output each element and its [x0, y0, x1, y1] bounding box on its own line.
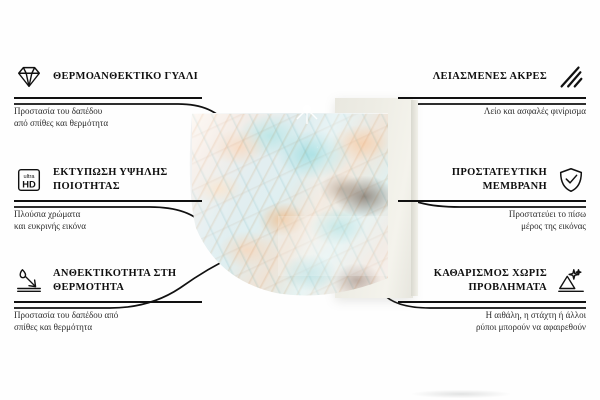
glass-sheen — [192, 113, 388, 303]
feature-title: ΠΡΟΣΤΑΤΕΥΤΙΚΗ ΜΕΜΒΡΑΝΗ — [398, 166, 547, 194]
feature-title: ΑΝΘΕΚΤΙΚΟΤΗΤΑ ΣΤΗ ΘΕΡΜΟΤΗΤΑ — [53, 267, 202, 295]
feature-high-quality-print: ultra HD ΕΚΤΥΠΩΣΗ ΥΨΗΛΗΣ ΠΟΙΟΤΗΤΑΣ Πλούσ… — [14, 165, 202, 233]
diamond-icon — [14, 62, 44, 92]
easy-clean-icon — [556, 266, 586, 296]
svg-text:HD: HD — [22, 180, 36, 190]
feature-description: Λείο και ασφαλές φινίρισμα — [398, 105, 586, 118]
feature-header: ΚΑΘΑΡΙΣΜΟΣ ΧΩΡΙΣ ΠΡΟΒΛΗΜΑΤΑ — [398, 266, 586, 296]
feature-description: Προστατεύει το πίσω μέρος της εικόνας — [398, 208, 586, 234]
feature-header: ΑΝΘΕΚΤΙΚΟΤΗΤΑ ΣΤΗ ΘΕΡΜΟΤΗΤΑ — [14, 266, 202, 296]
feature-protective-film: ΠΡΟΣΤΑΤΕΥΤΙΚΗ ΜΕΜΒΡΑΝΗ Προστατεύει το πί… — [398, 165, 586, 233]
feature-rule — [14, 200, 202, 202]
feature-smoothed-edges: ΛΕΙΑΣΜΕΝΕΣ ΑΚΡΕΣ Λείο και ασφαλές φινίρι… — [398, 62, 586, 117]
feature-header: ultra HD ΕΚΤΥΠΩΣΗ ΥΨΗΛΗΣ ΠΟΙΟΤΗΤΑΣ — [14, 165, 202, 195]
feature-rule — [14, 301, 202, 303]
ultra-hd-icon: ultra HD — [14, 165, 44, 195]
feature-rule — [398, 200, 586, 202]
product-image — [180, 88, 420, 313]
shield-check-icon — [556, 165, 586, 195]
feature-heat-durability: ΑΝΘΕΚΤΙΚΟΤΗΤΑ ΣΤΗ ΘΕΡΜΟΤΗΤΑ Προστασία το… — [14, 266, 202, 334]
feature-title: ΛΕΙΑΣΜΕΝΕΣ ΑΚΡΕΣ — [433, 70, 547, 84]
feature-easy-cleaning: ΚΑΘΑΡΙΣΜΟΣ ΧΩΡΙΣ ΠΡΟΒΛΗΜΑΤΑ Η αιθάλη, η … — [398, 266, 586, 334]
feature-title: ΚΑΘΑΡΙΣΜΟΣ ΧΩΡΙΣ ΠΡΟΒΛΗΜΑΤΑ — [398, 267, 547, 295]
feature-description: Πλούσια χρώματα και ευκρινής εικόνα — [14, 208, 202, 234]
feature-title: ΘΕΡΜΟΑΝΘΕΚΤΙΚΟ ΓΥΑΛΙ — [53, 70, 198, 84]
feature-heat-resistant-glass: ΘΕΡΜΟΑΝΘΕΚΤΙΚΟ ΓΥΑΛΙ Προστασία του δαπέδ… — [14, 62, 202, 130]
feature-header: ΛΕΙΑΣΜΕΝΕΣ ΑΚΡΕΣ — [398, 62, 586, 92]
feature-rule — [398, 301, 586, 303]
product-shadow — [386, 388, 536, 400]
feature-description: Προστασία του δαπέδου από σπίθες και θερ… — [14, 309, 202, 335]
feature-rule — [14, 97, 202, 99]
feature-title: ΕΚΤΥΠΩΣΗ ΥΨΗΛΗΣ ΠΟΙΟΤΗΤΑΣ — [53, 166, 202, 194]
infographic-stage: ΘΕΡΜΟΑΝΘΕΚΤΙΚΟ ΓΥΑΛΙ Προστασία του δαπέδ… — [0, 0, 600, 400]
feature-description: Η αιθάλη, η στάχτη ή άλλοι ρύποι μπορούν… — [398, 309, 586, 335]
heat-resistance-icon — [14, 266, 44, 296]
smoothed-edges-icon — [556, 62, 586, 92]
glass-panel — [180, 88, 420, 313]
feature-description: Προστασία του δαπέδου από σπίθες και θερ… — [14, 105, 202, 131]
feature-rule — [398, 97, 586, 99]
feature-header: ΠΡΟΣΤΑΤΕΥΤΙΚΗ ΜΕΜΒΡΑΝΗ — [398, 165, 586, 195]
feature-header: ΘΕΡΜΟΑΝΘΕΚΤΙΚΟ ΓΥΑΛΙ — [14, 62, 202, 92]
